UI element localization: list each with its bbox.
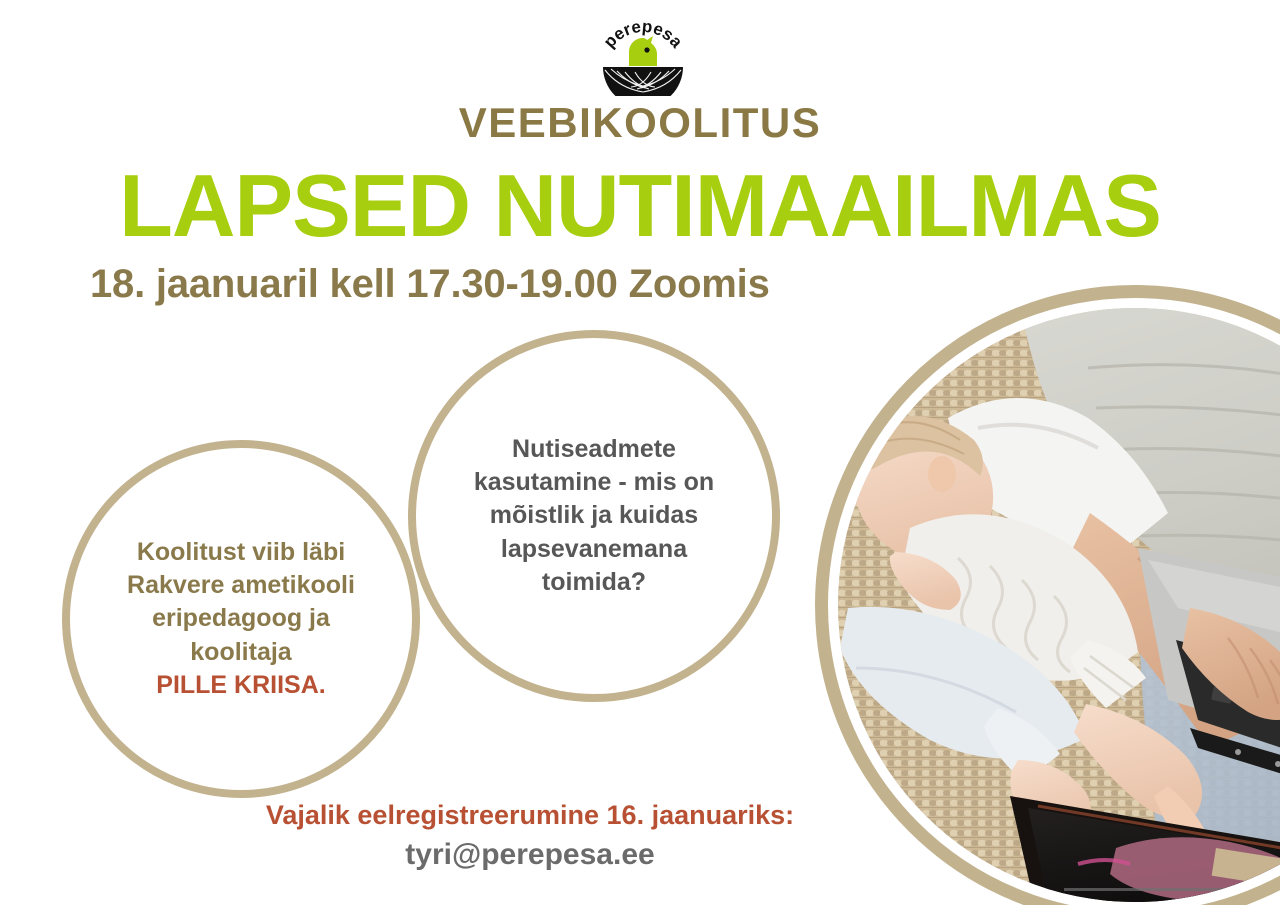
registration-notice: Vajalik eelregistreerumine 16. jaanuarik…	[0, 800, 1280, 831]
perepesa-nest-bird-icon: perepesa	[595, 14, 691, 96]
registration-notice-text: Vajalik eelregistreerumine 16. jaanuarik…	[266, 800, 794, 831]
event-datetime: 18. jaanuaril kell 17.30-19.00 Zoomis	[90, 262, 950, 306]
kicker-heading: VEEBIKOOLITUS	[0, 102, 1280, 144]
bubble-trainer: Koolitust viib läbi Rakvere ametikooli e…	[62, 440, 420, 798]
bubble-question-line-2: mõistlik ja kuidas	[490, 501, 698, 529]
logo-nest	[603, 67, 683, 96]
poster-canvas: perepesa	[0, 0, 1280, 905]
bubble-question-line-0: Nutiseadmete	[512, 435, 676, 463]
bubble-question-line-4: toimida?	[542, 568, 646, 596]
page-title: LAPSED NUTIMAAILMAS	[0, 160, 1280, 252]
trainer-name: PILLE KRIISA.	[156, 671, 325, 699]
bubble-question-line-3: lapsevanemana	[501, 535, 687, 563]
perepesa-logo: perepesa	[595, 14, 691, 96]
logo-bird	[629, 36, 657, 66]
bubble-question-text: Nutiseadmete kasutamine - mis on mõistli…	[448, 433, 740, 599]
bubble-trainer-line-2: eripedagoog ja	[152, 604, 330, 632]
bubble-trainer-line-3: koolitaja	[190, 638, 291, 666]
bubble-question: Nutiseadmete kasutamine - mis on mõistli…	[408, 330, 780, 702]
contact-email[interactable]: tyri@perepesa.ee	[0, 838, 1280, 872]
bubble-trainer-line-1: Rakvere ametikooli	[127, 571, 355, 599]
contact-email-text[interactable]: tyri@perepesa.ee	[405, 838, 654, 872]
bubble-trainer-text: Koolitust viib läbi Rakvere ametikooli e…	[101, 536, 381, 702]
bubble-question-line-1: kasutamine - mis on	[474, 468, 714, 496]
bubble-trainer-line-0: Koolitust viib läbi	[137, 538, 345, 566]
